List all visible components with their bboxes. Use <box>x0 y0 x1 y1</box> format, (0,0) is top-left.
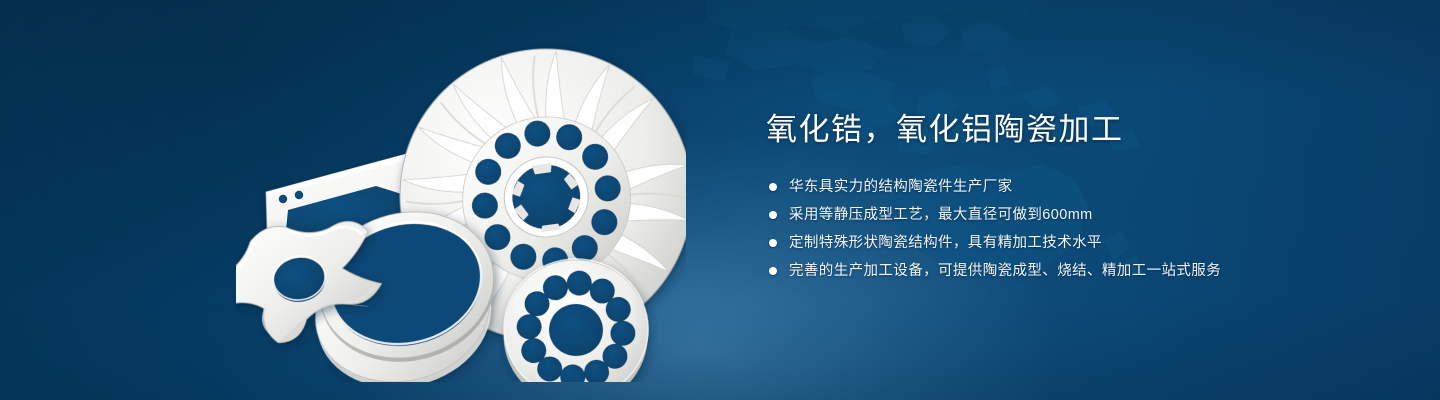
feature-text: 采用等静压成型工艺，最大直径可做到600mm <box>789 204 1093 226</box>
bullet-dot-icon <box>769 183 777 191</box>
list-item: 采用等静压成型工艺，最大直径可做到600mm <box>769 204 1326 226</box>
bullet-dot-icon <box>769 239 777 247</box>
banner-copy: 氧化锆，氧化铝陶瓷加工 华东具实力的结构陶瓷件生产厂家 采用等静压成型工艺，最大… <box>766 108 1326 288</box>
hero-banner: 氧化锆，氧化铝陶瓷加工 华东具实力的结构陶瓷件生产厂家 采用等静压成型工艺，最大… <box>0 0 1440 400</box>
feature-list: 华东具实力的结构陶瓷件生产厂家 采用等静压成型工艺，最大直径可做到600mm 定… <box>769 176 1326 282</box>
feature-text: 定制特殊形状陶瓷结构件，具有精加工技术水平 <box>789 232 1102 254</box>
list-item: 华东具实力的结构陶瓷件生产厂家 <box>769 176 1326 198</box>
feature-text: 完善的生产加工设备，可提供陶瓷成型、烧结、精加工一站式服务 <box>789 260 1221 282</box>
list-item: 完善的生产加工设备，可提供陶瓷成型、烧结、精加工一站式服务 <box>769 260 1326 282</box>
feature-text: 华东具实力的结构陶瓷件生产厂家 <box>789 176 1013 198</box>
bullet-dot-icon <box>769 211 777 219</box>
ceramic-product-photo <box>236 42 686 382</box>
list-item: 定制特殊形状陶瓷结构件，具有精加工技术水平 <box>769 232 1326 254</box>
bullet-dot-icon <box>769 267 777 275</box>
page-title: 氧化锆，氧化铝陶瓷加工 <box>766 108 1326 152</box>
